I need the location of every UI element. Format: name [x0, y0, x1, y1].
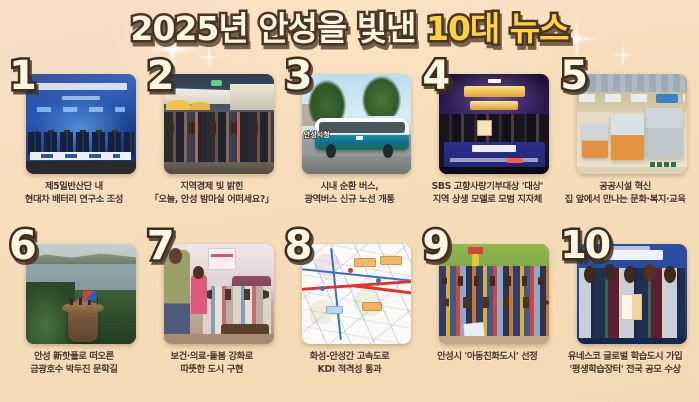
photo-layer-banner-text	[211, 254, 233, 257]
photo-layer-table-logos	[41, 154, 120, 158]
page-title-text: 2025년 안성을 빛낸 10대 뉴스	[131, 10, 569, 49]
caption-line-1: SBS 고향사랑기부대상 '대상'	[421, 180, 553, 193]
photo-layer-map-label-3	[362, 302, 382, 311]
photo-layer-bus-wheel-rear	[383, 144, 393, 158]
photo-layer-head-5	[664, 266, 676, 283]
news-caption-8: 화성-안성간 고속도로 KDI 적격성 통과	[284, 350, 416, 377]
photo-layer-tree-right	[362, 76, 402, 116]
photo-layer-sign-board	[468, 247, 483, 254]
news-card-9[interactable]: 9 안성시 '아동친화도시' 선정	[419, 232, 555, 402]
page-title-main: 2025년 안성을 빛낸	[131, 9, 426, 48]
news-photo-hwaseong-anseong-expressway-route-map[interactable]	[302, 244, 412, 344]
photo-layer-map-marker-1	[348, 268, 353, 273]
news-card-4[interactable]: 4 SBS 고향사랑기부대상 '대상' 지역 상생 모델로 모범 지자체	[419, 62, 555, 232]
rank-badge-4: 4	[422, 56, 450, 96]
photo-layer-heads	[203, 289, 271, 300]
photo-layer-heads	[164, 122, 274, 134]
photo-layer-bus-stripe	[356, 136, 363, 140]
caption-line-2: 금광호수 박두진 문학길	[8, 363, 140, 376]
photo-layer-tent-right	[230, 84, 274, 110]
photo-layer-person-pink	[191, 274, 206, 314]
photo-layer-banner-red-text	[507, 158, 522, 163]
caption-line-1: 안성시 '아동친화도시' 선정	[421, 350, 553, 363]
photo-layer-bus-wheel-front	[326, 144, 336, 158]
photo-layer-sbs-logo	[488, 79, 501, 83]
news-caption-3: 시내 순환 버스, 광역버스 신규 노선 개통	[284, 180, 416, 207]
news-card-7[interactable]: 7 보건·의료·돌봄 강화로 따뜻한 도시 구현	[144, 232, 280, 402]
news-card-2[interactable]: 2 지역경제 빛 밝힌 「오늘, 안성 밤마실 어떠세요?」	[144, 62, 280, 232]
photo-layer-road	[302, 156, 412, 174]
news-photo-night-market-street-crowd[interactable]	[164, 74, 274, 174]
rank-badge-3: 3	[285, 56, 313, 96]
news-card-1[interactable]: 1 제5일반산단 내 현대차 배터리 연구소 조성	[6, 62, 142, 232]
caption-line-2: 지역 상생 모델로 모범 지자체	[421, 193, 553, 206]
news-caption-9: 안성시 '아동친화도시' 선정	[421, 350, 553, 363]
photo-layer-tree-left	[308, 80, 345, 122]
photo-layer-building-3	[645, 108, 682, 158]
caption-line-1: 제5일반산단 내	[8, 180, 140, 193]
caption-line-2: 따뜻한 도시 구현	[146, 363, 278, 376]
rank-badge-6: 6	[9, 226, 37, 266]
rank-badge-1: 1	[9, 56, 37, 96]
news-caption-10: 유네스코 글로벌 학습도시 가입 '평생학습장터' 전국 공모 수상	[559, 350, 691, 377]
caption-line-1: 유네스코 글로벌 학습도시 가입	[559, 350, 691, 363]
page-title-highlight: 10대 뉴스	[426, 9, 569, 48]
rank-badge-7: 7	[147, 226, 175, 266]
photo-layer-city-hall-sign: 안성시청	[304, 130, 330, 140]
rank-badge-10: 10	[560, 226, 609, 264]
news-photo-community-health-care-meeting[interactable]	[164, 244, 274, 344]
caption-line-1: 공공시설 혁신	[559, 180, 691, 193]
photo-layer-building-1	[582, 124, 608, 158]
news-caption-4: SBS 고향사랑기부대상 '대상' 지역 상생 모델로 모범 지자체	[421, 180, 553, 207]
news-photo-geumgwang-lake-observation-deck[interactable]	[26, 244, 136, 344]
photo-layer-stage	[439, 167, 549, 174]
news-caption-5: 공공시설 혁신 집 앞에서 만나는 문화·복지·교육	[559, 180, 691, 207]
caption-line-2: 현대차 배터리 연구소 조성	[8, 193, 140, 206]
photo-layer-distant-city	[577, 74, 687, 92]
photo-layer-banner-subtext	[450, 158, 538, 162]
caption-line-1: 안성 新핫플로 떠오른	[8, 350, 140, 363]
photo-layer-map-label-4	[326, 306, 344, 314]
photo-layer-screen	[26, 74, 136, 126]
photo-layer-head-1	[584, 266, 596, 283]
news-card-5[interactable]: 5 공공시설 혁신 집 앞에서 만나는 문화·복지·교육	[557, 62, 693, 232]
news-caption-7: 보건·의료·돌봄 강화로 따뜻한 도시 구현	[146, 350, 278, 377]
photo-layer-wall-banner	[208, 248, 237, 270]
photo-layer-umbrella-1	[166, 100, 190, 110]
news-card-10[interactable]: 10 유네스코 글로벌 학습도시 가입 '평생학습장터' 전국 공모 수상	[557, 232, 693, 402]
photo-layer-map-label-1	[354, 258, 376, 267]
caption-line-2: KDI 적격성 통과	[284, 363, 416, 376]
photo-layer-title-gold-1	[464, 86, 526, 97]
news-caption-1: 제5일반산단 내 현대차 배터리 연구소 조성	[8, 180, 140, 207]
photo-layer-people	[28, 132, 133, 154]
news-photo-battery-research-center-groundbreaking-ceremony[interactable]	[26, 74, 136, 174]
caption-line-2: 「오늘, 안성 밤마실 어떠세요?」	[146, 193, 278, 206]
sparkle-ray-horizontal	[608, 53, 638, 57]
photo-layer-title-gold-2	[470, 101, 518, 110]
photo-layer-heads-back	[439, 276, 549, 286]
news-photo-public-facility-complex-aerial[interactable]	[577, 74, 687, 174]
photo-layer-heads-front	[439, 297, 549, 308]
news-card-6[interactable]: 6 안성 新핫플로 떠오른 금광호수 박두진 문학길	[6, 232, 142, 402]
photo-layer-foreground	[577, 167, 687, 174]
sparkle-core	[206, 54, 213, 61]
photo-layer-flag	[83, 291, 96, 300]
rank-badge-9: 9	[422, 226, 450, 266]
photo-layer-banner-title	[35, 83, 127, 90]
news-photo-city-circular-bus[interactable]: 안성시청	[302, 74, 412, 174]
caption-line-2: 광역버스 신규 노선 개통	[284, 193, 416, 206]
photo-layer-blue-roof	[656, 94, 678, 103]
sparkle-ray-horizontal	[196, 55, 222, 59]
news-grid: 1 제5일반산단 내 현대차 배터리 연구소 조성 2	[6, 62, 693, 402]
news-card-3[interactable]: 3 안성시청 시내 순환 버스, 광역버스 신규 노선 개통	[282, 62, 418, 232]
photo-layer-floor	[164, 334, 274, 344]
photo-layer-banner-date	[62, 96, 99, 100]
sparkle-core	[619, 51, 627, 59]
photo-layer-green-sign	[211, 80, 222, 86]
photo-layer-banner-text	[472, 145, 516, 152]
rank-badge-2: 2	[147, 56, 175, 96]
news-caption-6: 안성 新핫플로 떠오른 금광호수 박두진 문학길	[8, 350, 140, 377]
caption-line-1: 지역경제 빛 밝힌	[146, 180, 278, 193]
news-photo-child-friendly-city-school-assembly[interactable]	[439, 244, 549, 344]
photo-layer-building-2	[611, 114, 644, 160]
photo-layer-logos	[37, 107, 125, 112]
photo-layer-map-label-2	[380, 256, 402, 265]
photo-layer-floor	[26, 161, 136, 174]
photo-layer-floor	[577, 338, 687, 344]
photo-layer-floor	[439, 336, 549, 344]
page-title: 2025년 안성을 빛낸 10대 뉴스	[0, 10, 699, 49]
rank-badge-8: 8	[285, 226, 313, 266]
caption-line-2: 집 앞에서 만나는 문화·복지·교육	[559, 193, 691, 206]
photo-layer-green-wall	[439, 244, 549, 268]
caption-line-1: 시내 순환 버스,	[284, 180, 416, 193]
rank-badge-5: 5	[560, 56, 588, 96]
news-card-8[interactable]: 8 화성-안성간 고속도로 KDI 적격성 통과	[282, 232, 418, 402]
caption-line-2: '평생학습장터' 전국 공모 수상	[559, 363, 691, 376]
photo-layer-ground	[164, 162, 274, 174]
caption-line-1: 화성-안성간 고속도로	[284, 350, 416, 363]
news-caption-2: 지역경제 빛 밝힌 「오늘, 안성 밤마실 어떠세요?」	[146, 180, 278, 207]
photo-layer-certificate	[621, 294, 642, 320]
news-photo-sbs-hometown-love-donation-award-ceremony[interactable]	[439, 74, 549, 174]
photo-layer-bus-windows	[319, 122, 405, 133]
photo-layer-award-plaque	[477, 120, 492, 136]
caption-line-1: 보건·의료·돌봄 강화로	[146, 350, 278, 363]
photo-layer-umbrella-2	[190, 102, 210, 110]
